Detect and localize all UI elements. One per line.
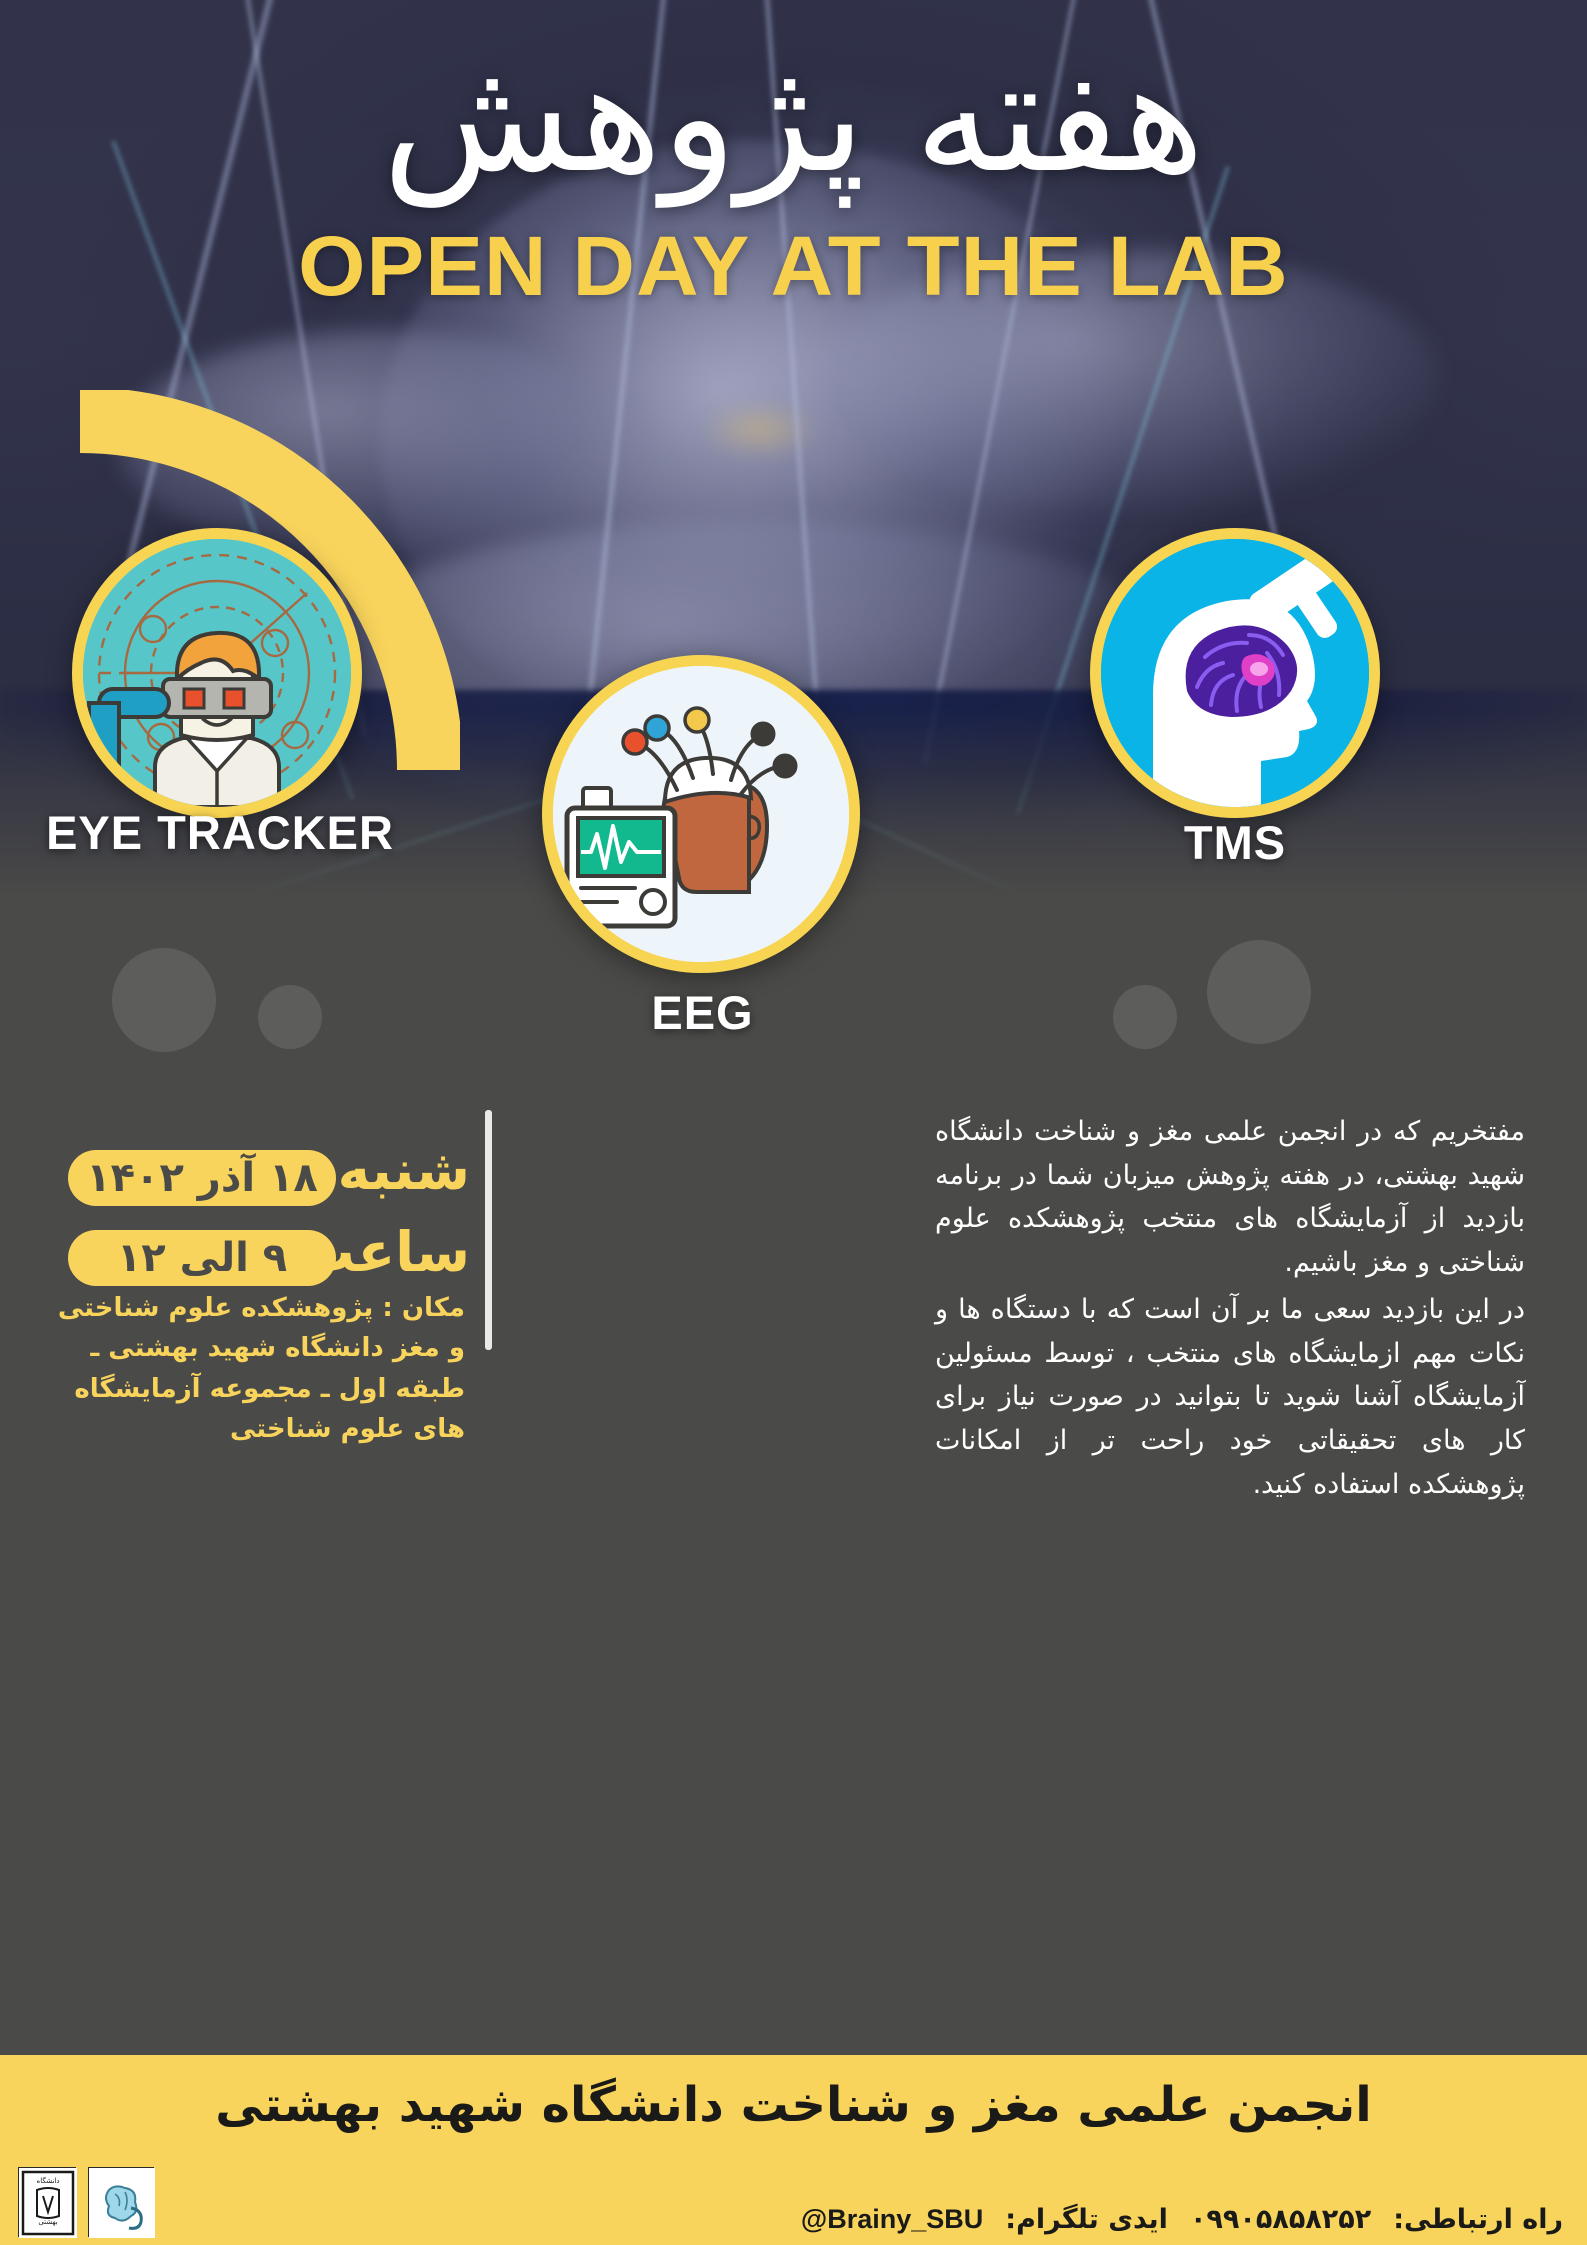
decorative-dot [112,948,216,1052]
event-date-pill: ۱۸ آذر ۱۴۰۲ [68,1150,336,1206]
poster-root: هفته پژوهش OPEN DAY AT THE LAB [0,0,1587,2245]
description-paragraph-1: مفتخریم که در انجمن علمی مغز و شناخت دان… [935,1110,1525,1285]
footer-banner: انجمن علمی مغز و شناخت دانشگاه شهید بهشت… [0,2055,1587,2245]
page-title-english: OPEN DAY AT THE LAB [0,218,1587,315]
telegram-label: ایدی تلگرام: [1005,2204,1168,2235]
footer-contact: راه ارتباطی: ۰۹۹۰۵۸۵۸۲۵۲ ایدی تلگرام: @B… [801,2204,1563,2235]
eeg-icon [553,666,849,962]
decorative-dot [258,985,322,1049]
lab-caption-eeg: EEG [540,985,865,1040]
description-paragraph-2: در این بازدید سعی ما بر آن است که با دست… [935,1288,1525,1507]
svg-text:بهشتی: بهشتی [38,2218,57,2226]
sbu-university-logo: دانشگاه بهشتی [18,2167,76,2237]
eye-tracker-icon [83,539,351,807]
vertical-divider [485,1110,492,1350]
event-time-label: ساعت [350,1225,470,1280]
contact-label: راه ارتباطی: [1393,2204,1563,2235]
telegram-handle[interactable]: @Brainy_SBU [801,2204,983,2235]
lab-circle-tms[interactable] [1090,528,1380,818]
svg-text:دانشگاه: دانشگاه [37,2176,60,2185]
contact-phone: ۰۹۹۰۵۸۵۸۲۵۲ [1190,2204,1371,2235]
page-title-persian: هفته پژوهش [0,28,1587,206]
lab-circle-eeg[interactable] [542,655,860,973]
event-day-label: شنبه [350,1143,470,1198]
tms-icon [1101,539,1369,807]
brain-association-logo [88,2167,154,2237]
footer-logos: دانشگاه بهشتی [18,2167,154,2237]
lab-caption-tms: TMS [1090,815,1380,870]
lab-caption-eye-tracker: EYE TRACKER [20,805,420,860]
event-time-pill: ۹ الی ۱۲ [68,1230,336,1286]
footer-organizer: انجمن علمی مغز و شناخت دانشگاه شهید بهشت… [0,2077,1587,2133]
decorative-dot [1207,940,1311,1044]
decorative-dot [1113,985,1177,1049]
lab-circle-eye-tracker[interactable] [72,528,362,818]
event-venue: مکان : پژوهشکده علوم شناختی و مغز دانشگا… [40,1288,465,1449]
